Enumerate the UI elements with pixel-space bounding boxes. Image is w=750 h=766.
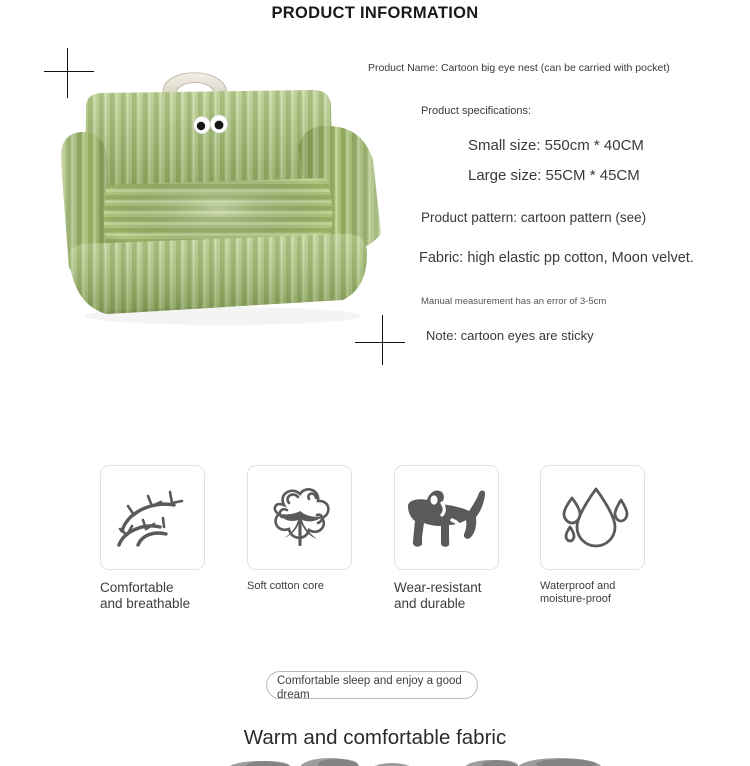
spec-fabric: Fabric: high elastic pp cotton, Moon vel… xyxy=(419,250,750,266)
spec-product-name: Product Name: Cartoon big eye nest (can … xyxy=(368,62,750,74)
feature-label: Comfortableand breathable xyxy=(100,580,205,611)
page-title: PRODUCT INFORMATION xyxy=(0,4,750,23)
bottom-fabric-strip xyxy=(0,752,750,766)
product-photo xyxy=(55,52,400,342)
cotton-boll-icon xyxy=(262,481,338,555)
dog-silhouette-icon xyxy=(405,487,489,549)
feature-label: Soft cotton core xyxy=(247,580,352,593)
feature-label: Waterproof andmoisture-proof xyxy=(540,580,645,605)
front-bolster xyxy=(68,234,367,314)
feature-icon-box xyxy=(394,465,499,570)
feature-icon-box xyxy=(540,465,645,570)
spec-size-large: Large size: 55CM * 45CM xyxy=(468,167,750,184)
feature-label: Wear-resistantand durable xyxy=(394,580,499,611)
spec-pattern: Product pattern: cartoon pattern (see) xyxy=(421,210,750,225)
feature-icon-box xyxy=(247,465,352,570)
product-specifications: Product Name: Cartoon big eye nest (can … xyxy=(368,62,750,343)
tagline-text: Comfortable sleep and enjoy a good dream xyxy=(277,674,493,703)
spec-note: Note: cartoon eyes are sticky xyxy=(426,328,750,343)
feature-item-comfortable-breathable: Comfortableand breathable xyxy=(100,465,205,611)
feature-item-waterproof-moisture-proof: Waterproof andmoisture-proof xyxy=(540,465,645,605)
feature-list: Comfortableand breathable xyxy=(0,465,750,625)
water-droplet-icon xyxy=(555,482,631,554)
feature-item-soft-cotton-core: Soft cotton core xyxy=(247,465,352,593)
breathable-airflow-icon xyxy=(114,483,192,553)
spec-manual-measurement-note: Manual measurement has an error of 3-5cm xyxy=(421,296,750,307)
feature-icon-box xyxy=(100,465,205,570)
bottom-heading: Warm and comfortable fabric xyxy=(0,726,750,750)
spec-size-small: Small size: 550cm * 40CM xyxy=(468,137,750,154)
product-shadow xyxy=(85,307,361,325)
feature-item-wear-resistant-durable: Wear-resistantand durable xyxy=(394,465,499,611)
spec-heading: Product specifications: xyxy=(421,105,750,117)
